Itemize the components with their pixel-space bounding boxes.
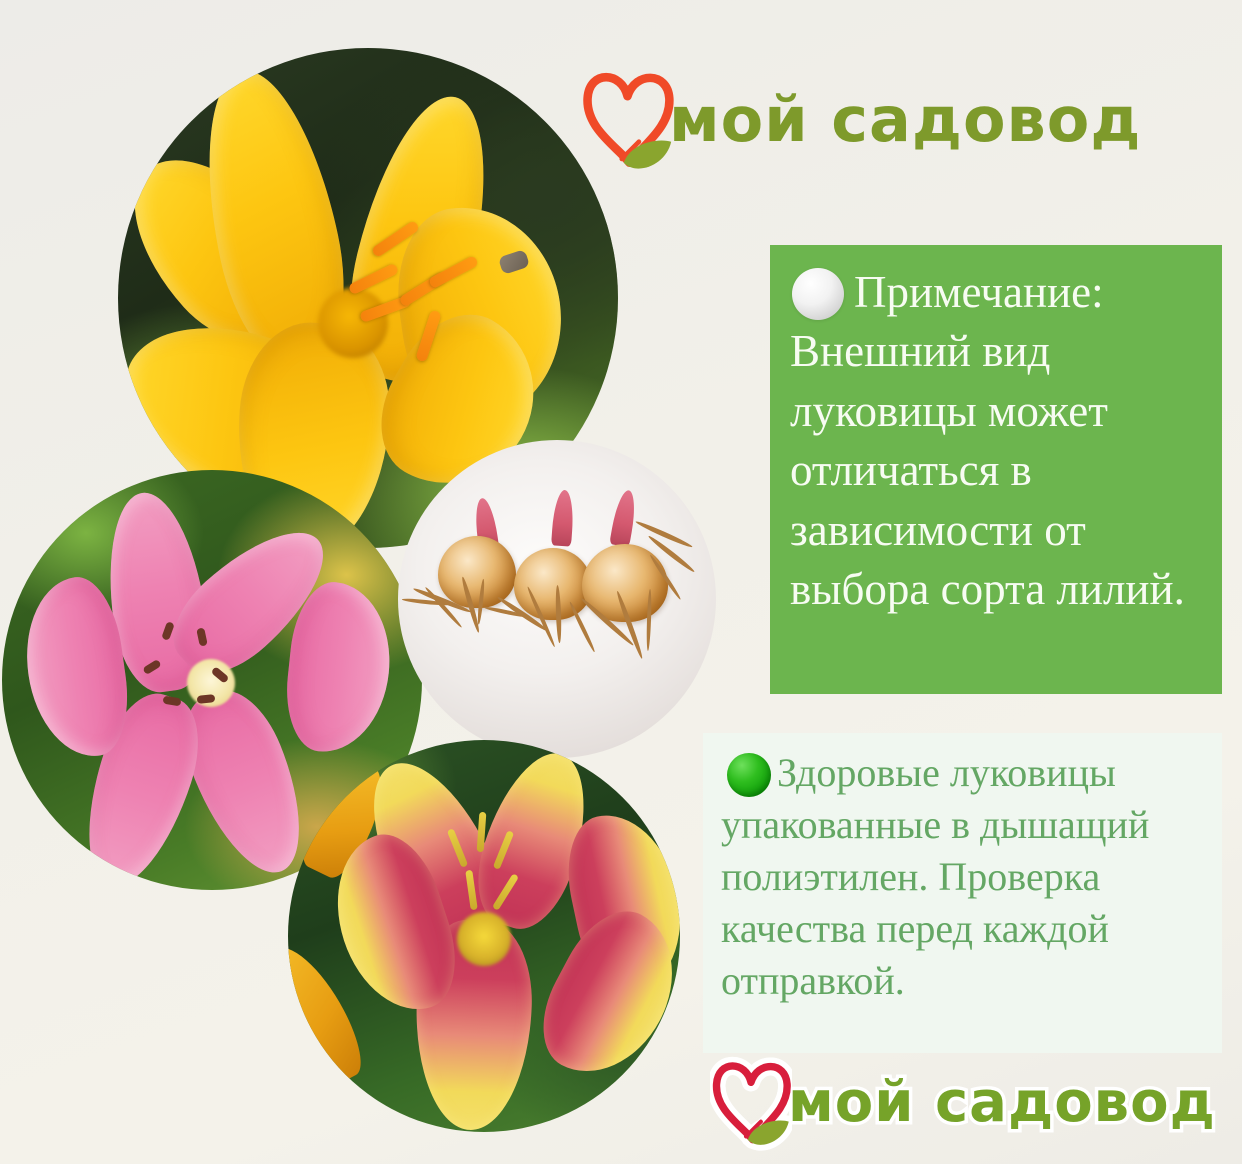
heart-leaf-icon [710,1050,792,1154]
white-sphere-bullet-icon [792,268,844,320]
heart-leaf-icon [580,60,675,178]
photo-red-yellow-lily [288,740,680,1132]
flower-center [457,912,511,966]
logo-wordmark: мой садовод [669,83,1141,156]
logo-wordmark: мой садовод [788,1070,1216,1135]
logo-top[interactable]: мой садовод [580,60,1141,178]
flower-center [318,288,388,358]
product-infographic: мой садовод Примечание: Внешний вид луко… [0,0,1242,1164]
bulb [514,548,592,620]
healthy-bulbs-text: Здоровые луковицы упакованные в дышащий … [721,747,1206,1007]
green-sphere-bullet-icon [727,753,771,797]
note-text: Примечание: Внешний вид луковицы может о… [790,263,1200,619]
note-panel: Примечание: Внешний вид луковицы может о… [770,245,1222,694]
healthy-bulbs-panel: Здоровые луковицы упакованные в дышащий … [703,733,1222,1053]
bulb [438,536,516,608]
logo-bottom[interactable]: мой садовод [710,1050,1216,1154]
photo-lily-bulbs [398,440,716,758]
